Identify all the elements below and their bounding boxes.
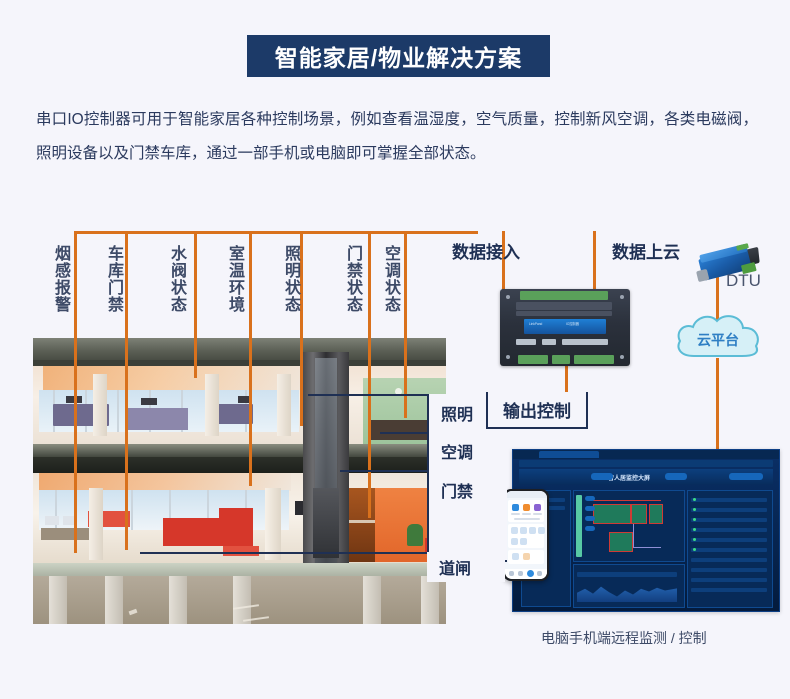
connector-row-3 [562, 339, 608, 345]
alarm-led-4 [693, 528, 696, 531]
output-leader-lighting [308, 394, 427, 396]
output-leader-access [340, 470, 427, 472]
sensor-drop-2 [125, 231, 128, 342]
page-title-banner: 智能家居/物业解决方案 [247, 35, 550, 77]
sensor-label-smoke: 烟感报警 [51, 245, 70, 313]
header-button-right[interactable] [665, 473, 687, 480]
model-text: IO控制器 [566, 322, 579, 326]
terminal-block-top [520, 291, 608, 300]
building-roof-slab [33, 338, 446, 360]
alarm-row-5 [691, 538, 767, 542]
alarm-row-7 [691, 558, 767, 562]
data-access-rail [407, 231, 478, 234]
sensor-line-in-building-1 [74, 338, 77, 553]
device-label-plate: LinkPand IO控制器 [524, 319, 606, 334]
phone-statusbar [505, 491, 547, 498]
monitoring-dashboard-screen: 智人居监控大屏 [512, 449, 780, 612]
output-box-access: 门禁 [427, 470, 507, 562]
ground-slab [33, 563, 446, 577]
sensor-drop-7 [404, 231, 407, 342]
phone-grid-item-6[interactable] [520, 538, 527, 545]
sensor-drop-1 [74, 231, 77, 342]
phone-icon-alarm[interactable] [523, 504, 530, 511]
scada-pipe-red [593, 500, 661, 501]
workstation-cluster-2 [128, 408, 188, 430]
connector-row [516, 339, 536, 345]
output-label-hvac: 空调 [441, 439, 473, 463]
cloud-platform-label: 云平台 [672, 310, 764, 362]
scada-tank-4 [609, 532, 633, 552]
phone-card-top [508, 500, 544, 522]
output-label-barrier: 道闸 [439, 555, 471, 579]
elevator-car [313, 488, 339, 558]
column-f2-b [265, 488, 281, 560]
phone-grid-item-1[interactable] [511, 527, 518, 534]
alarm-row-4 [691, 528, 767, 532]
scada-pipe-2 [633, 547, 661, 548]
phone-card-bottom [508, 550, 544, 564]
alarm-led-6 [693, 548, 696, 551]
page-title: 智能家居/物业解决方案 [275, 39, 522, 73]
connector-row-2 [542, 339, 556, 345]
alarm-led-5 [693, 538, 696, 541]
garage-column-3 [169, 576, 187, 624]
sensor-drop-5 [300, 231, 303, 342]
phone-grid-item-4[interactable] [538, 527, 545, 534]
label-data-access: 数据接入 [452, 238, 520, 263]
garage-column-4 [233, 576, 251, 624]
sensor-line-in-building-3 [194, 338, 197, 378]
column-f1-b [205, 374, 219, 436]
output-box-barrier: 道闸 [427, 552, 505, 582]
phone-card-stat [514, 518, 540, 520]
sensor-rail-top [74, 231, 407, 234]
cloud-platform-shape: 云平台 [672, 310, 764, 362]
sensor-line-in-building-2 [125, 338, 128, 550]
phone-card-label-1 [511, 513, 520, 515]
monitor-f2-1 [45, 516, 59, 525]
label-data-to-cloud: 数据上云 [612, 238, 680, 263]
terminal-block-bottom-2 [552, 355, 570, 364]
mount-hole-br [620, 355, 624, 359]
slab-between-1-2 [33, 444, 446, 457]
garage-column-2 [105, 576, 123, 624]
scada-level-bar [576, 495, 582, 557]
mullion-3 [117, 390, 119, 432]
phone-tab-home[interactable] [509, 571, 514, 576]
scada-tank-1 [593, 504, 631, 524]
dtu-label: DTU [726, 271, 761, 291]
sensor-line-in-building-4 [249, 338, 252, 486]
phone-grid-item-3[interactable] [529, 527, 536, 534]
sensor-drop-3 [194, 231, 197, 342]
header-button-far-right[interactable] [729, 473, 763, 480]
browser-tab [539, 451, 599, 458]
column-f2-a [89, 488, 103, 560]
column-f1-a [93, 374, 107, 436]
poster-page: 智能家居/物业解决方案 串口IO控制器可用于智能家居各种控制场景，例如查看温湿度… [0, 0, 790, 699]
orange-room-plant [407, 524, 423, 546]
output-leader-barrier [140, 552, 427, 554]
output-control-title: 输出控制 [503, 397, 571, 422]
output-box-hvac: 空调 [427, 432, 507, 472]
sensor-label-temp: 室温环境 [225, 245, 244, 313]
scada-pipe-1 [633, 524, 634, 548]
sensor-line-in-building-5 [300, 338, 303, 426]
mount-hole-tr [620, 295, 624, 299]
dashboard-title: 智人居监控大屏 [608, 473, 650, 482]
cloud-to-dashboard-line [716, 358, 719, 450]
phone-tab-add[interactable] [527, 570, 534, 577]
sensor-label-light: 照明状态 [281, 245, 300, 313]
sensor-label-hvac: 空调状态 [381, 245, 400, 313]
alarm-row-9 [691, 578, 767, 582]
header-button-left[interactable] [591, 473, 613, 480]
monitor-2 [141, 398, 157, 405]
phone-tab-stats[interactable] [537, 571, 542, 576]
phone-card-label-2 [522, 513, 531, 515]
phone-screen [505, 491, 547, 579]
io-controller-device: LinkPand IO控制器 [500, 289, 630, 366]
terminal-block-bottom [518, 355, 548, 364]
alarm-row-8 [691, 568, 767, 572]
phone-bottom-item-2[interactable] [523, 553, 530, 560]
phone-card-grid [508, 524, 544, 548]
mount-hole-bl [506, 355, 510, 359]
garage-column-5 [363, 576, 381, 624]
phone-tabbar [505, 569, 547, 579]
sensor-line-in-building-7 [404, 338, 407, 418]
phone-grid-item-5[interactable] [511, 538, 518, 545]
dtu-db9-connector [696, 269, 709, 282]
phone-card-label-3 [533, 513, 542, 515]
phone-bottom-item-1[interactable] [512, 553, 519, 560]
sensor-label-access: 门禁状态 [343, 245, 362, 313]
alarm-led-2 [693, 508, 696, 511]
sensor-drop-6 [368, 231, 371, 342]
red-furniture-3 [219, 508, 253, 522]
phone-icon-device[interactable] [512, 504, 519, 511]
column-f1-c [277, 374, 291, 436]
controller-down-line [565, 366, 568, 392]
sensor-label-valve: 水阀状态 [167, 245, 186, 313]
phone-tab-devices[interactable] [518, 571, 523, 576]
floor-1-ceiling [43, 366, 303, 390]
alarm-row-10 [691, 588, 767, 592]
mount-hole-tl [506, 295, 510, 299]
sensor-drop-4 [249, 231, 252, 342]
phone-grid-item-2[interactable] [520, 527, 527, 534]
scada-button-1[interactable] [585, 496, 595, 501]
garage-column-6 [421, 576, 439, 624]
phone-icon-user[interactable] [534, 504, 541, 511]
garage-column-1 [49, 576, 67, 624]
brand-text: LinkPand [529, 322, 542, 326]
red-furniture-1 [163, 518, 253, 546]
scada-button-4[interactable] [585, 526, 595, 531]
red-furniture-4 [223, 546, 259, 556]
alarm-row-2 [691, 508, 767, 512]
sensor-label-garage: 车库门禁 [104, 245, 123, 313]
relay-row [516, 302, 612, 310]
dashboard-caption: 电脑手机端远程监测 / 控制 [541, 628, 707, 648]
building-cutaway-illustration [33, 338, 446, 624]
sensor-line-in-building-6 [368, 338, 371, 518]
relay-row-2 [516, 311, 612, 316]
page-description: 串口IO控制器可用于智能家居各种控制场景，例如查看温湿度，空气质量，控制新风空调… [36, 103, 758, 171]
output-label-lighting: 照明 [441, 401, 473, 425]
output-control-title-box: 输出控制 [486, 392, 588, 429]
alarm-row-3 [691, 518, 767, 522]
green-room-furniture [369, 420, 429, 440]
data-cloud-drop-top [593, 231, 596, 293]
scada-tank-2 [631, 504, 647, 524]
alarm-row-6 [691, 548, 767, 552]
scada-button-2[interactable] [585, 506, 595, 511]
terminal-block-bottom-3 [574, 355, 614, 364]
alarm-led-3 [693, 518, 696, 521]
scada-button-3[interactable] [585, 516, 595, 521]
mobile-phone-mockup [503, 489, 549, 581]
mullion2-3 [131, 490, 133, 530]
scada-tank-3 [649, 504, 663, 524]
output-leader-hvac [380, 432, 427, 434]
browser-address-bar [519, 460, 773, 467]
alarm-row-1 [691, 498, 767, 502]
output-label-access: 门禁 [441, 478, 473, 502]
chart-filter-bar [577, 572, 677, 577]
alarm-led-1 [693, 498, 696, 501]
